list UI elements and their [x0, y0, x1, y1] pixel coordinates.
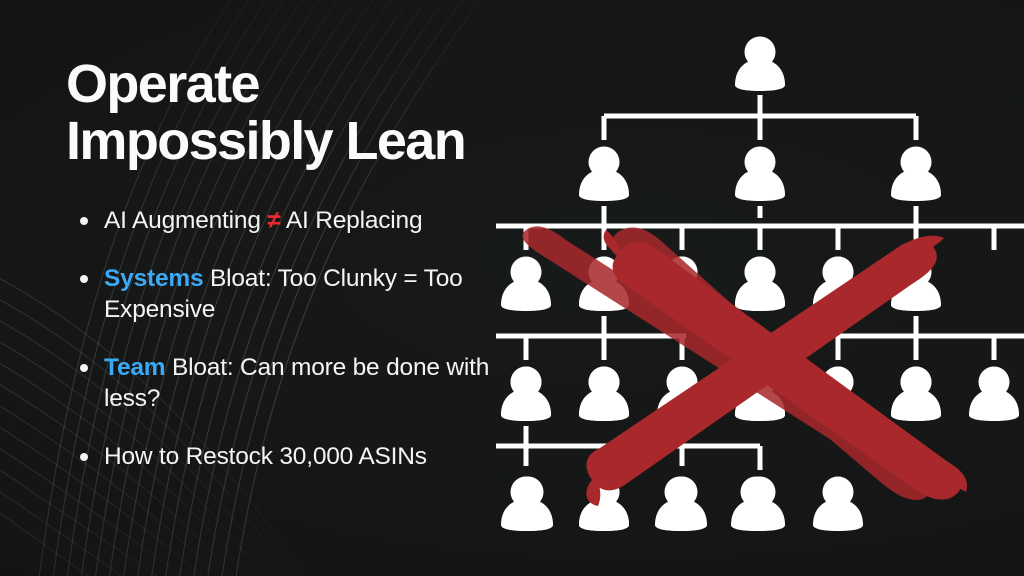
person-icon [579, 477, 629, 532]
person-icon [501, 257, 551, 312]
bullet-text: Systems Bloat: Too Clunky = Too Expensiv… [104, 265, 463, 323]
org-chart-people [496, 37, 941, 532]
bullet-dot-icon [80, 453, 88, 461]
list-item-ai-augmenting: AI Augmenting ≠ AI Replacing [66, 206, 536, 237]
person-icon [891, 147, 941, 202]
person-icon [579, 367, 629, 422]
bullet-dot-icon [80, 217, 88, 225]
person-icon [731, 477, 781, 532]
list-item-systems-bloat: Systems Bloat: Too Clunky = Too Expensiv… [66, 264, 536, 326]
person-icon [657, 257, 707, 312]
bullet-dot-icon [80, 275, 88, 283]
org-chart-graphic [496, 18, 1024, 550]
person-icon [891, 367, 941, 422]
page-title: Operate Impossibly Lean [66, 56, 536, 170]
person-icon [735, 147, 785, 202]
person-icon [655, 477, 705, 532]
bullet-text: AI Augmenting ≠ AI Replacing [104, 207, 422, 234]
person-icon [735, 37, 785, 92]
person-icon [501, 367, 551, 422]
slide-root: Operate Impossibly Lean AI Augmenting ≠ … [0, 0, 1024, 576]
person-icon [503, 477, 553, 532]
bullet-list: AI Augmenting ≠ AI Replacing Systems Blo… [66, 206, 536, 472]
person-icon [735, 367, 785, 422]
bullet-text: Team Bloat: Can more be done with less? [104, 354, 489, 412]
person-icon [579, 257, 629, 312]
person-icon [579, 147, 629, 202]
person-icon [735, 257, 785, 312]
list-item-restock-asins: How to Restock 30,000 ASINs [66, 442, 536, 473]
bullet-dot-icon [80, 364, 88, 372]
list-item-team-bloat: Team Bloat: Can more be done with less? [66, 353, 536, 415]
person-icon [813, 367, 863, 422]
content-column: Operate Impossibly Lean AI Augmenting ≠ … [66, 56, 536, 473]
bullet-text: How to Restock 30,000 ASINs [104, 443, 427, 470]
person-icon [813, 257, 863, 312]
